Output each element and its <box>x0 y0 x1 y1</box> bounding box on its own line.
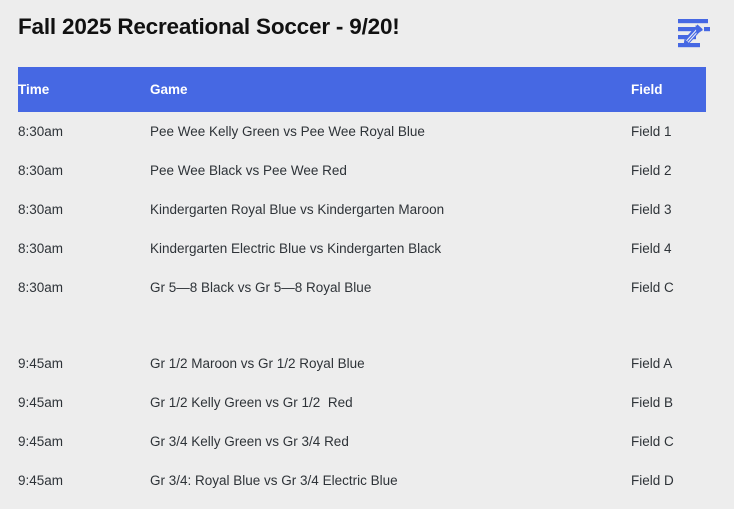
cell-field: Field 4 <box>631 229 706 268</box>
cell-game: Pee Wee Kelly Green vs Pee Wee Royal Blu… <box>150 112 631 151</box>
cell-time <box>18 307 150 344</box>
schedule-table: Time Game Field 8:30amPee Wee Kelly Gree… <box>18 67 706 500</box>
cell-field: Field D <box>631 461 706 500</box>
cell-game: Gr 3/4: Royal Blue vs Gr 3/4 Electric Bl… <box>150 461 631 500</box>
cell-field: Field 1 <box>631 112 706 151</box>
edit-list-icon[interactable] <box>676 16 716 54</box>
column-header-game[interactable]: Game <box>150 67 631 112</box>
cell-field: Field 2 <box>631 151 706 190</box>
cell-field: Field 3 <box>631 190 706 229</box>
table-row[interactable]: 8:30amKindergarten Electric Blue vs Kind… <box>18 229 706 268</box>
table-row[interactable]: 8:30amPee Wee Kelly Green vs Pee Wee Roy… <box>18 112 706 151</box>
column-header-field[interactable]: Field <box>631 67 706 112</box>
cell-game: Gr 1/2 Kelly Green vs Gr 1/2 Red <box>150 383 631 422</box>
cell-time: 8:30am <box>18 268 150 307</box>
cell-game: Pee Wee Black vs Pee Wee Red <box>150 151 631 190</box>
table-spacer-row <box>18 307 706 344</box>
table-header: Time Game Field <box>18 67 706 112</box>
cell-field: Field B <box>631 383 706 422</box>
cell-time: 9:45am <box>18 383 150 422</box>
cell-game: Kindergarten Royal Blue vs Kindergarten … <box>150 190 631 229</box>
cell-time: 8:30am <box>18 151 150 190</box>
table-row[interactable]: 9:45amGr 1/2 Maroon vs Gr 1/2 Royal Blue… <box>18 344 706 383</box>
cell-field: Field C <box>631 268 706 307</box>
cell-time: 8:30am <box>18 112 150 151</box>
cell-time: 9:45am <box>18 344 150 383</box>
title-bar: Fall 2025 Recreational Soccer - 9/20! <box>0 0 734 52</box>
cell-time: 8:30am <box>18 190 150 229</box>
cell-field <box>631 307 706 344</box>
cell-game: Gr 3/4 Kelly Green vs Gr 3/4 Red <box>150 422 631 461</box>
schedule-page: Fall 2025 Recreational Soccer - 9/20! <box>0 0 734 509</box>
cell-game: Gr 5—8 Black vs Gr 5—8 Royal Blue <box>150 268 631 307</box>
table-body: 8:30amPee Wee Kelly Green vs Pee Wee Roy… <box>18 112 706 500</box>
cell-game: Gr 1/2 Maroon vs Gr 1/2 Royal Blue <box>150 344 631 383</box>
table-row[interactable]: 8:30amGr 5—8 Black vs Gr 5—8 Royal BlueF… <box>18 268 706 307</box>
cell-game <box>150 307 631 344</box>
table-row[interactable]: 9:45amGr 3/4: Royal Blue vs Gr 3/4 Elect… <box>18 461 706 500</box>
cell-time: 9:45am <box>18 422 150 461</box>
cell-field: Field A <box>631 344 706 383</box>
table-row[interactable]: 9:45amGr 1/2 Kelly Green vs Gr 1/2 RedFi… <box>18 383 706 422</box>
table-row[interactable]: 9:45amGr 3/4 Kelly Green vs Gr 3/4 RedFi… <box>18 422 706 461</box>
cell-time: 9:45am <box>18 461 150 500</box>
cell-field: Field C <box>631 422 706 461</box>
cell-time: 8:30am <box>18 229 150 268</box>
table-row[interactable]: 8:30amPee Wee Black vs Pee Wee RedField … <box>18 151 706 190</box>
table-row[interactable]: 8:30amKindergarten Royal Blue vs Kinderg… <box>18 190 706 229</box>
table-header-row: Time Game Field <box>18 67 706 112</box>
column-header-time[interactable]: Time <box>18 67 150 112</box>
page-title: Fall 2025 Recreational Soccer - 9/20! <box>18 14 400 40</box>
cell-game: Kindergarten Electric Blue vs Kindergart… <box>150 229 631 268</box>
